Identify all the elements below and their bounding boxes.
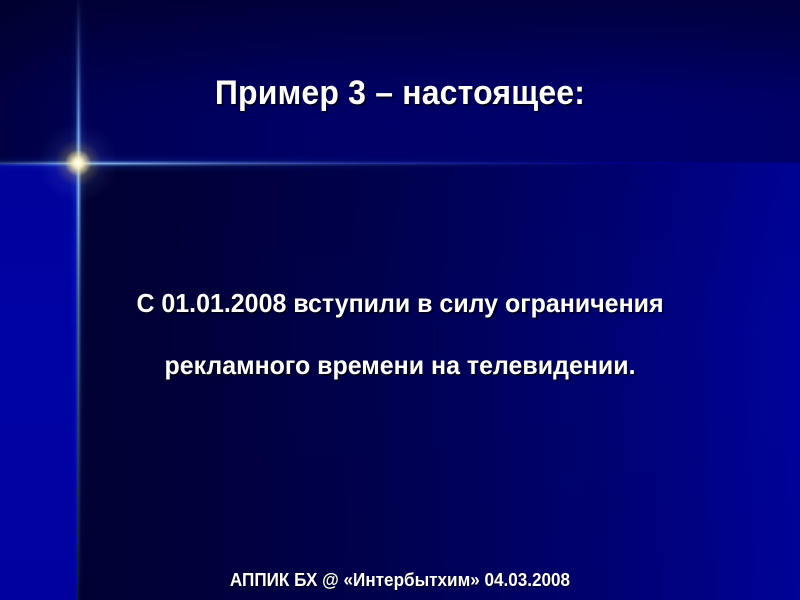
slide-body: С 01.01.2008 вступили в силу ограничения… bbox=[16, 272, 784, 396]
slide-title: Пример 3 – настоящее: bbox=[24, 72, 776, 114]
slide-footer: АППИК БХ @ «Интербытхим» 04.03.2008 bbox=[20, 568, 780, 592]
presentation-slide: Пример 3 – настоящее: С 01.01.2008 вступ… bbox=[0, 0, 800, 600]
slide-body-line: С 01.01.2008 вступили в силу ограничения bbox=[16, 272, 784, 334]
slide-body-line: рекламного времени на телевидении. bbox=[16, 334, 784, 396]
